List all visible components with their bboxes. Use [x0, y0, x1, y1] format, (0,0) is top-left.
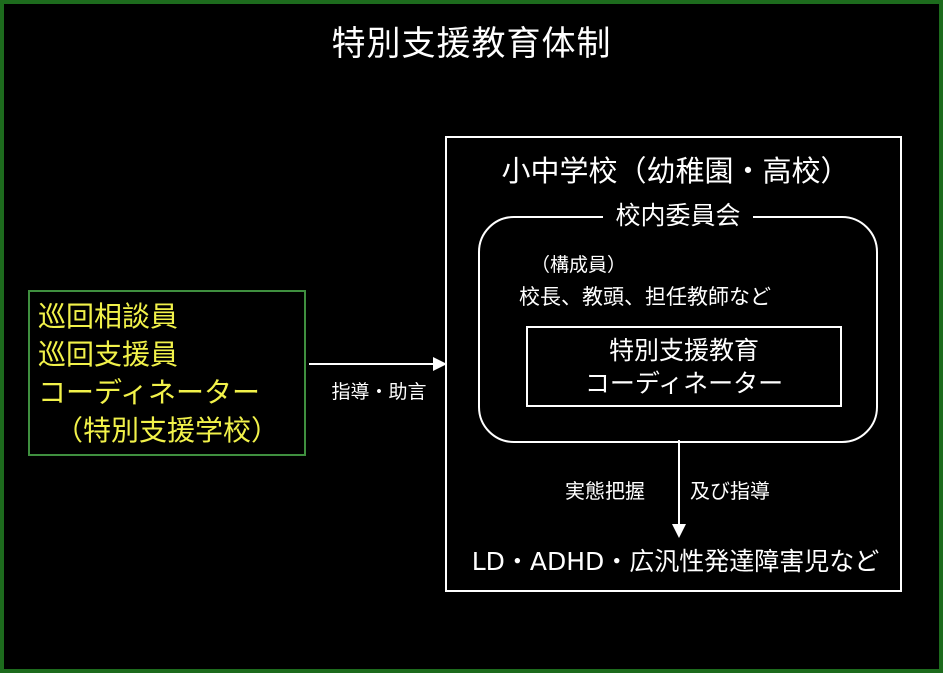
school-box: 小中学校（幼稚園・高校） 校内委員会 （構成員） 校長、教頭、担任教師など 特別…	[445, 136, 902, 592]
coordinator-line-1: 特別支援教育	[609, 334, 759, 367]
arrow-head	[672, 524, 686, 538]
coordinator-box: 特別支援教育 コーディネーター	[526, 326, 842, 407]
members-list: 校長、教頭、担任教師など	[519, 281, 771, 311]
roving-advisor-box: 巡回相談員 巡回支援員 コーディネーター （特別支援学校）	[28, 290, 306, 456]
left-box-line-4: （特別支援学校）	[30, 412, 304, 450]
guidance-arrow-label: 指導・助言	[309, 377, 449, 404]
arrow-shaft	[309, 363, 435, 365]
guidance-arrow-icon	[309, 357, 447, 371]
left-box-line-3: コーディネーター	[30, 374, 304, 412]
school-box-title: 小中学校（幼稚園・高校）	[447, 148, 904, 190]
assessment-arrow-label-left: 実態把握	[565, 475, 645, 504]
diagram-canvas: 特別支援教育体制 巡回相談員 巡回支援員 コーディネーター （特別支援学校） 指…	[0, 0, 943, 673]
page-title: 特別支援教育体制	[4, 26, 939, 63]
arrow-shaft	[678, 440, 680, 526]
assessment-arrow-icon	[672, 440, 686, 538]
members-heading: （構成員）	[531, 250, 626, 277]
left-box-line-1: 巡回相談員	[30, 298, 304, 336]
left-box-line-2: 巡回支援員	[30, 336, 304, 374]
assessment-arrow-label-right: 及び指導	[690, 475, 770, 504]
coordinator-line-2: コーディネーター	[585, 367, 783, 400]
target-students-label: LD・ADHD・広汎性発達障害児など	[447, 542, 904, 578]
